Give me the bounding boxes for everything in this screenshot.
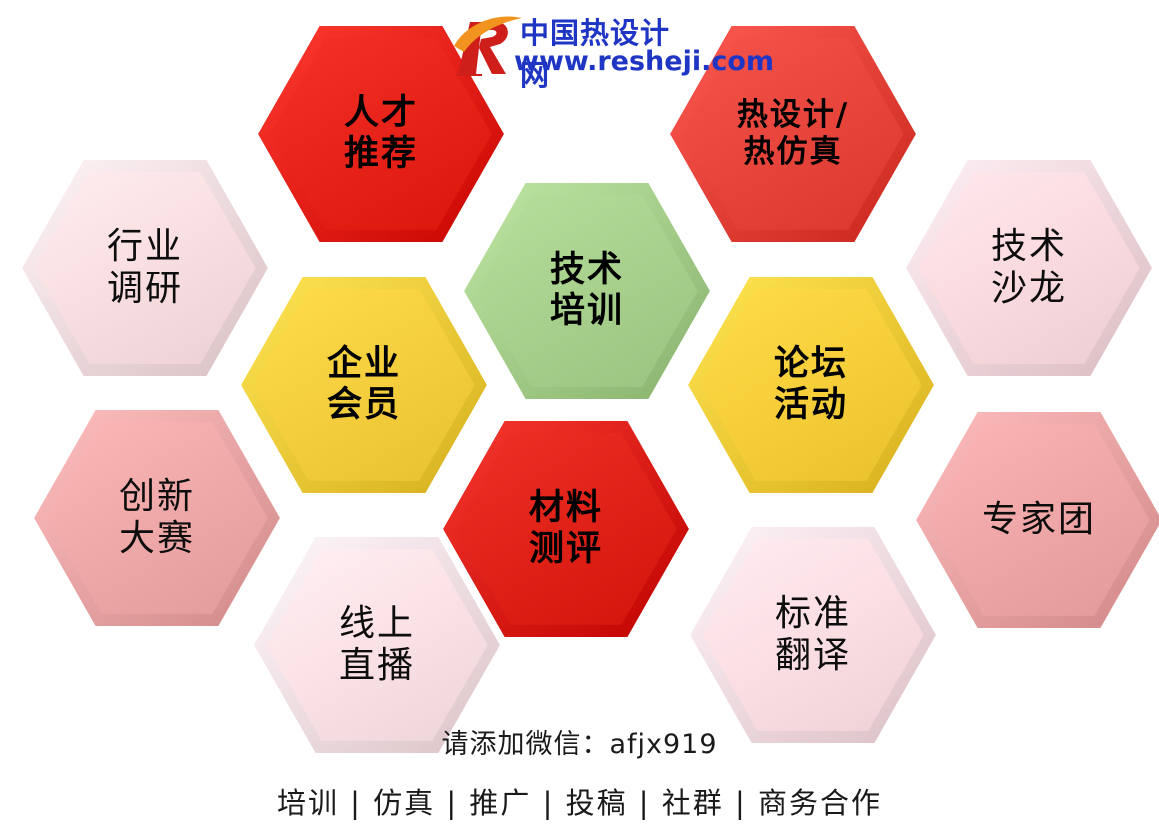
hexagon-innovation-contest[interactable]: 创新 大赛 <box>34 410 280 626</box>
hexagon-online-live[interactable]: 线上 直播 <box>254 537 500 753</box>
hexagon-expert-team[interactable]: 专家团 <box>916 412 1159 628</box>
hexagon-standard-translation[interactable]: 标准 翻译 <box>690 527 936 743</box>
hexagon-forum-activity[interactable]: 论坛 活动 <box>688 277 934 493</box>
hexagon-tech-training[interactable]: 技术 培训 <box>464 183 710 399</box>
hexagon-enterprise-membership[interactable]: 企业 会员 <box>241 277 487 493</box>
logo-site-url: www.resheji.com <box>514 46 774 77</box>
wechat-contact-text: 请添加微信：afjx919 <box>0 722 1159 761</box>
site-logo: 中国热设计网 www.resheji.com <box>452 8 670 84</box>
services-tagline: 培训 | 仿真 | 推广 | 投稿 | 社群 | 商务合作 <box>0 780 1159 822</box>
hexagon-industry-research[interactable]: 行业 调研 <box>22 160 268 376</box>
hexagon-tech-salon[interactable]: 技术 沙龙 <box>906 160 1152 376</box>
hexagon-material-evaluation[interactable]: 材料 测评 <box>443 421 689 637</box>
hexagon-service-map: 人才 推荐热设计/ 热仿真行业 调研技术 培训技术 沙龙企业 会员论坛 活动创新… <box>0 0 1159 828</box>
